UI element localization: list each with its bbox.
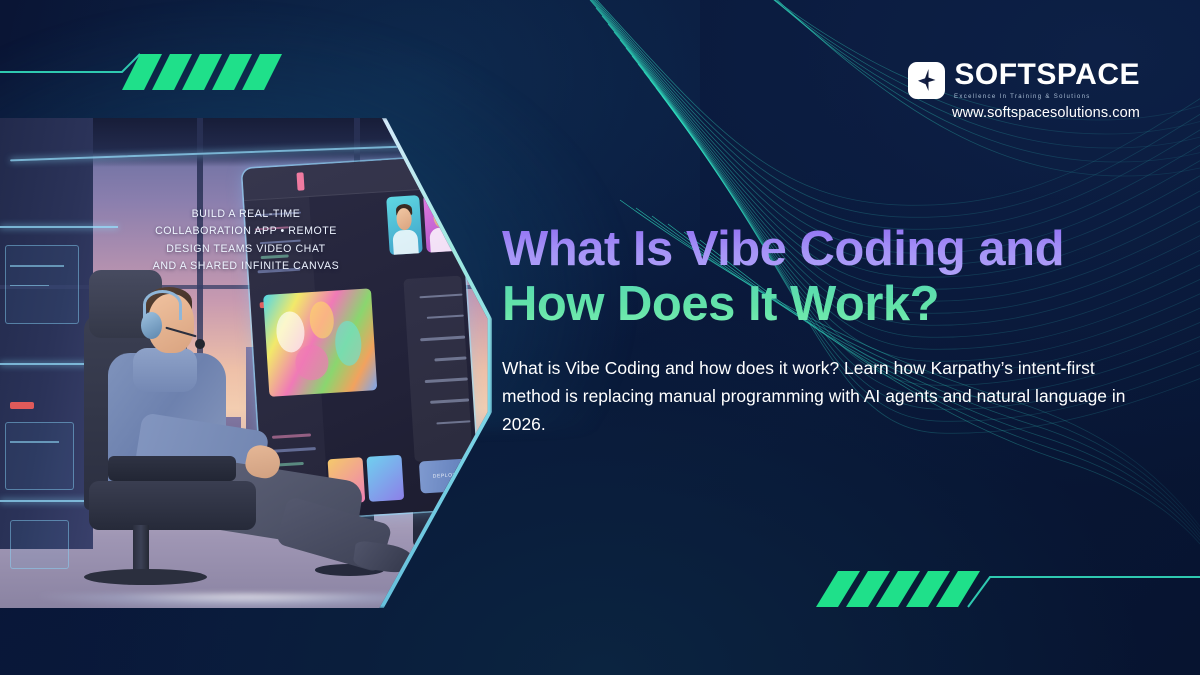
- app-properties-panel: [403, 276, 473, 463]
- caption-line-2: COLLABORATION APP • REMOTE: [39, 223, 452, 240]
- microphone-tip-icon: [195, 339, 205, 350]
- canvas-thumbnail-2: [367, 454, 404, 502]
- brand-tagline: Excellence In Training & Solutions: [954, 93, 1091, 100]
- decor-top-left: [0, 50, 290, 120]
- illustration-scene: DEPLOY: [0, 118, 492, 608]
- headphone-earcup-icon: [141, 312, 163, 339]
- caption-line-3: DESIGN TEAMS VIDEO CHAT: [39, 241, 452, 258]
- decor-bottom-right: [800, 559, 1200, 629]
- office-chair-armrest: [108, 456, 236, 481]
- brand-name: SOFTSPACE: [954, 60, 1140, 90]
- office-chair-seat: [89, 481, 256, 530]
- hero-illustration-panel: DEPLOY: [0, 118, 492, 608]
- softspace-logo-icon: [908, 62, 945, 99]
- page-subtitle: What is Vibe Coding and how does it work…: [502, 354, 1132, 439]
- hero-text-column: What Is Vibe Coding and How Does It Work…: [502, 222, 1150, 438]
- caption-line-4: AND A SHARED INFINITE CANVAS: [39, 258, 452, 275]
- caption-line-1: BUILD A REAL-TIME: [39, 206, 452, 223]
- office-chair-stem: [133, 525, 149, 574]
- page-title: What Is Vibe Coding and How Does It Work…: [502, 222, 1150, 332]
- panel-clip: DEPLOY: [0, 118, 492, 608]
- person-hood: [133, 348, 197, 392]
- brand-website[interactable]: www.softspacesolutions.com: [952, 105, 1140, 121]
- shared-infinite-canvas: [263, 288, 377, 397]
- illustration-caption: BUILD A REAL-TIME COLLABORATION APP • RE…: [39, 206, 452, 275]
- brand-logo[interactable]: SOFTSPACE Excellence In Training & Solut…: [908, 60, 1140, 121]
- deploy-button[interactable]: DEPLOY: [419, 459, 471, 494]
- logo-wordmark: SOFTSPACE Excellence In Training & Solut…: [954, 60, 1140, 100]
- headline-line-2: How Does It Work?: [502, 277, 1150, 332]
- banner-canvas: SOFTSPACE Excellence In Training & Solut…: [0, 0, 1200, 675]
- headline-line-1: What Is Vibe Coding and: [502, 222, 1150, 277]
- panel-bottom-shine: [39, 594, 452, 608]
- logo-row: SOFTSPACE Excellence In Training & Solut…: [908, 60, 1140, 100]
